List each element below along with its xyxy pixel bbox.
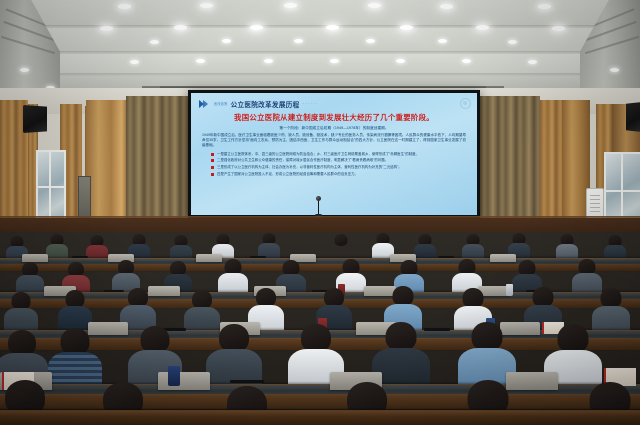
bullet-marker-icon bbox=[211, 153, 214, 156]
desk-row bbox=[0, 258, 640, 271]
desk-microphone bbox=[72, 256, 88, 258]
conference-hall-photo: 医改政策 公立医院改革发展历程 ······ 我国公立医院从建立制度到发展壮大经… bbox=[0, 0, 640, 425]
audience-person bbox=[58, 290, 92, 332]
bullet-marker-icon bbox=[211, 159, 214, 162]
bullet-text: 三是形成了以公立医疗机构为主体、社会办医为补充，以非营利性医疗机构为主体、营利性… bbox=[217, 165, 402, 169]
microphone-stem bbox=[318, 201, 319, 215]
slide-bullet-list: 一是建立公立医院体系，中、县三级的公立医院网络为防治结合；乡、村三级医疗卫生网络… bbox=[199, 152, 469, 177]
logo-subtext: 医改政策 bbox=[214, 101, 228, 106]
bullet-marker-icon bbox=[211, 166, 214, 169]
bullet-text: 二是强化政府对公共卫生和公众健康的责任，保障对城乡居民合作医疗制度，明显解决了"… bbox=[217, 158, 388, 162]
bullet-text: 四是产生了国家对公立医院投入不足，形成公立医院的经费自筹和需要人民群众的自负压力… bbox=[217, 172, 358, 176]
slide-watermark-icon bbox=[460, 98, 471, 109]
seat-back bbox=[158, 372, 210, 390]
audience-person bbox=[16, 262, 44, 296]
projected-slide: 医改政策 公立医院改革发展历程 ······ 我国公立医院从建立制度到发展壮大经… bbox=[191, 93, 477, 215]
list-item: 一是建立公立医院体系，中、县三级的公立医院网络为防治结合；乡、村三级医疗卫生网络… bbox=[211, 152, 467, 156]
drinking-cup bbox=[506, 284, 513, 296]
audience-area bbox=[0, 232, 640, 425]
desk-microphone bbox=[438, 256, 454, 258]
audience-person bbox=[556, 234, 578, 260]
slide-paragraph: 1949年新中国成立后，医疗卫生事业面临着缺医少药、缺人员、缺设备、缺技术，缺少… bbox=[199, 133, 469, 149]
slide-headline: 我国公立医院从建立制度到发展壮大经历了几个重要阶段。 bbox=[199, 112, 469, 123]
desk-microphone bbox=[250, 256, 266, 258]
audience-person bbox=[46, 234, 68, 260]
audience-person bbox=[414, 234, 436, 260]
projection-screen: 医改政策 公立医院改革发展历程 ······ 我国公立医院从建立制度到发展壮大经… bbox=[188, 90, 480, 218]
list-item: 四是产生了国家对公立医院投入不足，形成公立医院的经费自筹和需要人民群众的自负压力… bbox=[211, 172, 467, 176]
desk-microphone bbox=[230, 380, 264, 383]
drinking-cup bbox=[168, 366, 180, 386]
slide-subheading: 第一个阶段：新中国成立后初期（1949—1978年）的制度创建期。 bbox=[199, 126, 469, 131]
audience-person bbox=[218, 259, 248, 295]
title-dots: ······ bbox=[303, 101, 319, 107]
audience-person bbox=[462, 234, 484, 260]
bullet-text: 一是建立公立医院体系，中、县三级的公立医院网络为防治结合；乡、村三级医疗卫生网络… bbox=[217, 152, 419, 156]
list-item: 三是形成了以公立医疗机构为主体、社会办医为补充，以非营利性医疗机构为主体、营利性… bbox=[211, 165, 467, 169]
wall-speaker-right bbox=[626, 102, 640, 132]
audience-person bbox=[4, 292, 38, 334]
slide-title: 公立医院改革发展历程 bbox=[231, 99, 300, 109]
desk-row bbox=[0, 410, 640, 425]
seat-back bbox=[22, 254, 48, 262]
audience-person bbox=[330, 234, 352, 260]
bullet-marker-icon bbox=[211, 173, 214, 176]
ceiling bbox=[0, 0, 640, 92]
chevron-logo-icon bbox=[199, 100, 211, 108]
list-item: 二是强化政府对公共卫生和公众健康的责任，保障对城乡居民合作医疗制度，明显解决了"… bbox=[211, 158, 467, 162]
slide-header: 医改政策 公立医院改革发展历程 ······ bbox=[199, 98, 469, 109]
wall-speaker-left bbox=[23, 105, 47, 133]
